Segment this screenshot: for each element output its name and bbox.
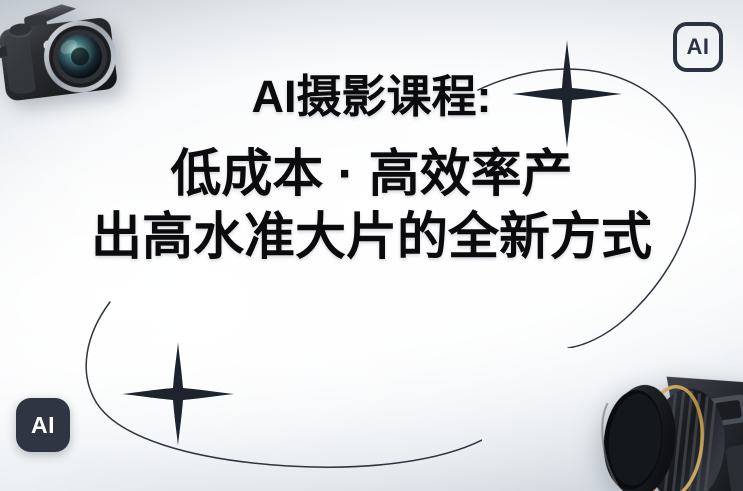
ai-badge-top-right[interactable]: AI bbox=[673, 22, 723, 72]
headline-line-1: 低成本 · 高效率产 bbox=[0, 144, 743, 203]
ai-badge-label: AI bbox=[687, 34, 710, 60]
ai-badge-label: AI bbox=[31, 412, 55, 439]
sparkle-icon bbox=[122, 342, 234, 446]
poster-title: AI摄影课程: bbox=[0, 74, 743, 119]
ai-badge-bottom-left[interactable]: AI bbox=[16, 398, 70, 452]
headline-block: AI摄影课程: 低成本 · 高效率产 出高水准大片的全新方式 bbox=[0, 74, 743, 266]
poster-canvas: AI摄影课程: 低成本 · 高效率产 出高水准大片的全新方式 AI AI bbox=[0, 0, 743, 491]
swoosh-bottom bbox=[52, 300, 482, 485]
headline-line-2: 出高水准大片的全新方式 bbox=[0, 207, 743, 266]
dslr-camera-icon bbox=[550, 323, 743, 491]
